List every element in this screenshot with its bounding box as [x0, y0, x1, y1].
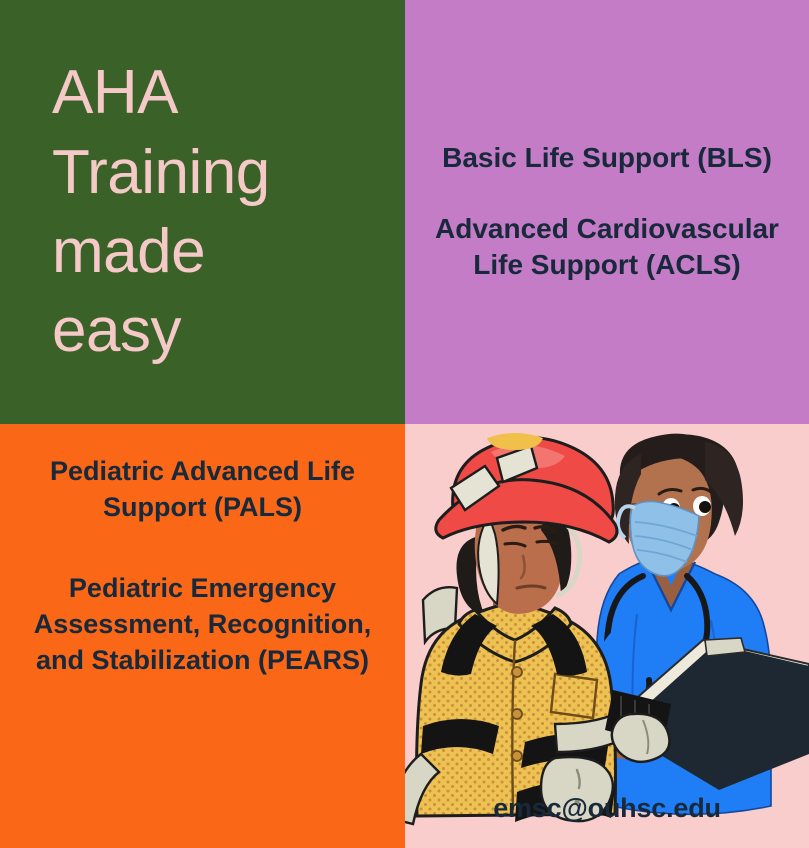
course-label-pears: Pediatric Emergency Assessment, Recognit…	[22, 571, 383, 678]
firefighter-and-nurse-illustration	[405, 424, 809, 848]
coat-button-1	[512, 667, 522, 677]
clipboard-clip	[705, 638, 745, 656]
course-label-pals: Pediatric Advanced Life Support (PALS)	[22, 454, 383, 525]
nurse-eye-right-pupil	[699, 501, 711, 513]
firefighter-glove-upper	[612, 714, 670, 762]
green-headline-panel: AHA Training made easy	[0, 0, 405, 424]
coat-chest-pocket	[551, 674, 597, 718]
course-label-bls: Basic Life Support (BLS)	[442, 140, 772, 177]
page-title: AHA Training made easy	[52, 53, 270, 370]
coat-button-2	[512, 709, 522, 719]
orange-course-panel: Pediatric Advanced Life Support (PALS) P…	[0, 424, 405, 848]
contact-email[interactable]: emsc@ouhsc.edu	[493, 793, 721, 824]
pink-illustration-panel: emsc@ouhsc.edu	[405, 424, 809, 848]
purple-course-panel: Basic Life Support (BLS) Advanced Cardio…	[405, 0, 809, 424]
poster-canvas: AHA Training made easy Basic Life Suppor…	[0, 0, 809, 848]
coat-button-3	[512, 751, 522, 761]
course-label-acls: Advanced Cardiovascular Life Support (AC…	[433, 211, 781, 285]
